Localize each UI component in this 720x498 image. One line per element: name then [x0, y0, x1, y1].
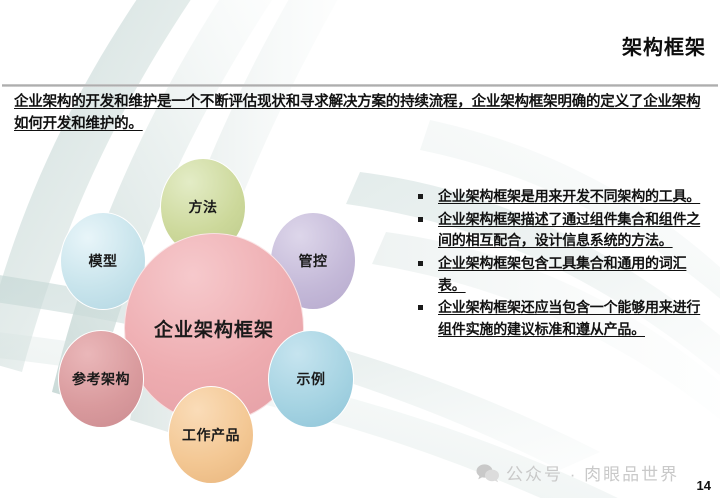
bubble-governance-label: 管控	[299, 251, 328, 271]
key-points-list: 企业架构框架是用来开发不同架构的工具。 企业架构框架描述了通过组件集合和组件之间…	[415, 186, 710, 342]
page-title: 架构框架	[622, 31, 706, 60]
list-item: 企业架构框架包含工具集合和通用的词汇表。	[415, 253, 710, 296]
watermark-text: 公众号 · 肉眼品世界	[506, 460, 679, 485]
bubble-example-label: 示例	[297, 369, 326, 389]
bubble-method-label: 方法	[189, 197, 218, 217]
lead-paragraph: 企业架构的开发和维护是一个不断评估现状和寻求解决方案的持续流程，企业架构框架明确…	[14, 92, 706, 136]
slide-header: 架构框架	[0, 0, 720, 88]
bubble-reference-architecture: 参考架构	[58, 330, 144, 428]
page-number: 14	[697, 478, 711, 493]
architecture-framework-diagram: 模型 方法 管控 企业架构框架 参考架构 示例 工作产品	[40, 158, 400, 488]
bubble-work-product-label: 工作产品	[182, 425, 240, 445]
bubble-work-product: 工作产品	[168, 386, 254, 484]
bubble-example: 示例	[268, 330, 354, 428]
header-divider	[2, 84, 718, 87]
wechat-icon	[476, 463, 500, 483]
bubble-center-label: 企业架构框架	[154, 315, 274, 342]
watermark: 公众号 · 肉眼品世界	[476, 460, 679, 485]
list-item: 企业架构框架还应当包含一个能够用来进行组件实施的建议标准和遵从产品。	[415, 297, 710, 340]
slide-canvas: 架构框架 企业架构的开发和维护是一个不断评估现状和寻求解决方案的持续流程，企业架…	[0, 0, 720, 498]
bubble-model-label: 模型	[89, 251, 118, 271]
bubble-reference-architecture-label: 参考架构	[72, 369, 130, 389]
list-item: 企业架构框架描述了通过组件集合和组件之间的相互配合，设计信息系统的方法。	[415, 209, 710, 252]
list-item: 企业架构框架是用来开发不同架构的工具。	[415, 186, 710, 208]
